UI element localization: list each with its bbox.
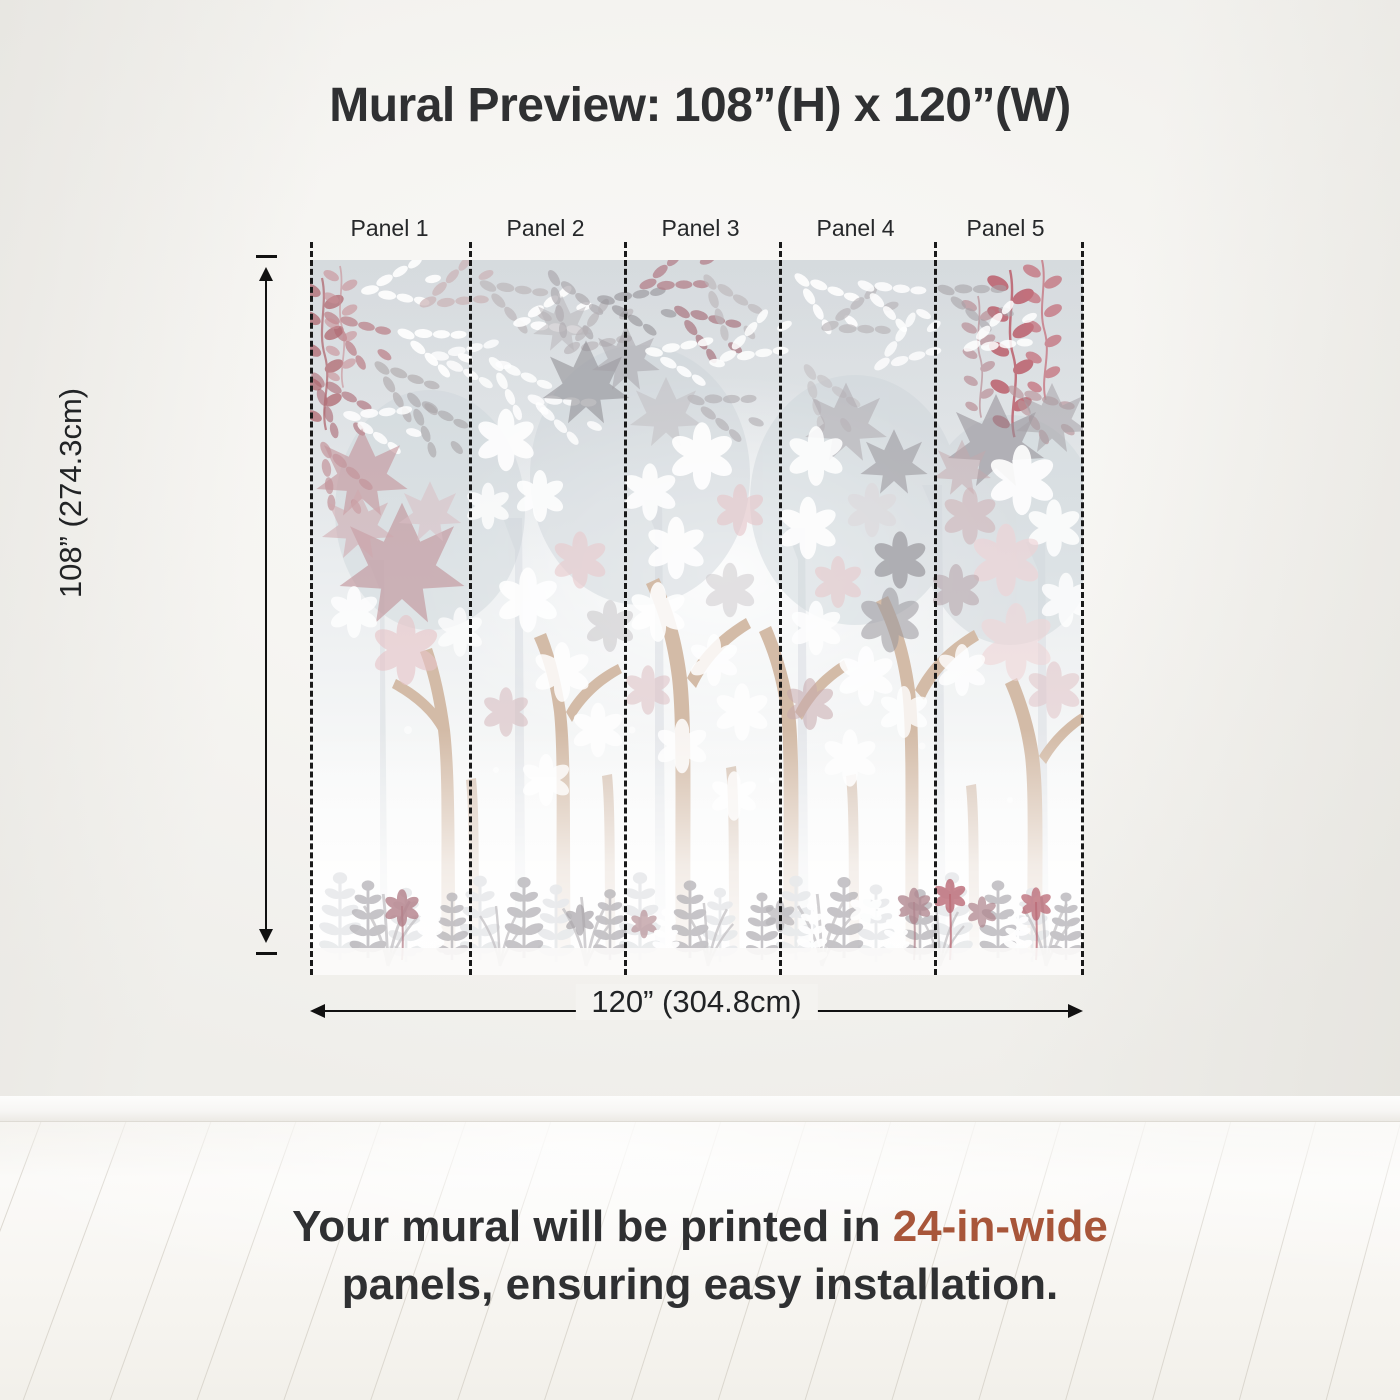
- panel-label-1: Panel 1: [312, 215, 467, 242]
- panel-seam-5: [1081, 242, 1084, 975]
- caption-line-1-text: Your mural will be printed in: [292, 1202, 893, 1251]
- height-label: 108” (274.3cm): [53, 388, 89, 598]
- height-arrowhead-down: [259, 929, 273, 943]
- mural-preview[interactable]: Panel 1 Panel 2 Panel 3 Panel 4 Panel 5: [310, 260, 1083, 975]
- height-arrowhead-up: [259, 267, 273, 281]
- width-dimension-line: 120” (304.8cm): [310, 1000, 1083, 1022]
- height-dimension-line: [252, 255, 280, 955]
- panel-seam-1: [469, 242, 472, 975]
- mural-illustration: [310, 260, 1083, 975]
- page-title: Mural Preview: 108”(H) x 120”(W): [0, 78, 1400, 133]
- width-arrowhead-left: [310, 1004, 325, 1018]
- panel-label-5: Panel 5: [928, 215, 1083, 242]
- panel-seam-4: [934, 242, 937, 975]
- caption-highlight: 24-in-wide: [893, 1202, 1108, 1251]
- panel-seam-0: [310, 242, 313, 975]
- panel-seam-2: [624, 242, 627, 975]
- panel-seam-3: [779, 242, 782, 975]
- width-arrowhead-right: [1068, 1004, 1083, 1018]
- baseboard: [0, 1096, 1400, 1122]
- width-label: 120” (304.8cm): [575, 984, 817, 1020]
- panel-label-4: Panel 4: [778, 215, 933, 242]
- caption-line-2: panels, ensuring easy installation.: [0, 1256, 1400, 1314]
- height-tick-top: [256, 255, 277, 258]
- height-tick-bottom: [256, 952, 277, 955]
- mural-artwork: [310, 260, 1083, 975]
- caption-line-1: Your mural will be printed in 24-in-wide: [0, 1198, 1400, 1256]
- height-arrow-shaft: [265, 269, 267, 941]
- panel-label-2: Panel 2: [468, 215, 623, 242]
- panel-label-3: Panel 3: [623, 215, 778, 242]
- installation-caption: Your mural will be printed in 24-in-wide…: [0, 1198, 1400, 1314]
